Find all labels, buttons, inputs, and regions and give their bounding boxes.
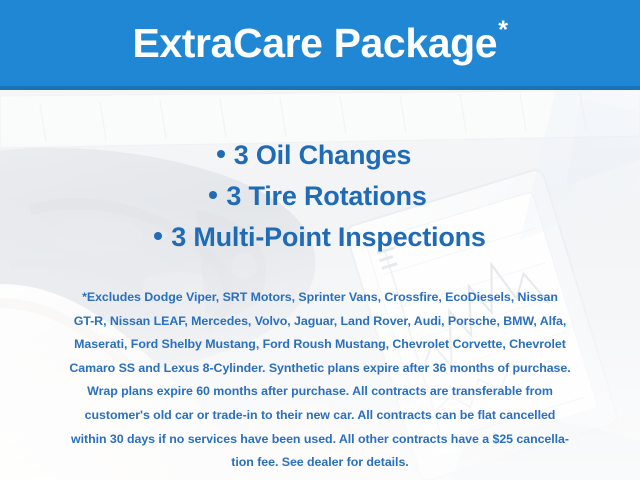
offer-bullet-label: 3 Oil Changes xyxy=(234,140,411,170)
offer-bullet-label: 3 Multi-Point Inspections xyxy=(171,222,486,252)
bullet-dot-icon xyxy=(209,191,217,199)
header-bar: ExtraCare Package* xyxy=(0,0,640,90)
page-title-text: ExtraCare Package xyxy=(132,23,497,64)
disclaimer-line: *Excludes Dodge Viper, SRT Motors, Sprin… xyxy=(18,286,622,310)
offer-bullet-item: 3 Multi-Point Inspections xyxy=(0,217,640,258)
disclaimer-text: *Excludes Dodge Viper, SRT Motors, Sprin… xyxy=(18,286,622,475)
disclaimer-line: tion fee. See dealer for details. xyxy=(18,451,622,475)
title-asterisk: * xyxy=(498,18,507,43)
disclaimer-line: GT-R, Nissan LEAF, Mercedes, Volvo, Jagu… xyxy=(18,310,622,334)
page-title: ExtraCare Package* xyxy=(0,0,640,86)
disclaimer-line: Wrap plans expire 60 months after purcha… xyxy=(18,380,622,404)
offer-bullet-list: 3 Oil Changes 3 Tire Rotations 3 Multi-P… xyxy=(0,135,640,258)
bullet-dot-icon xyxy=(154,232,162,240)
disclaimer-line: Maserati, Ford Shelby Mustang, Ford Rous… xyxy=(18,333,622,357)
disclaimer-line: customer's old car or trade-in to their … xyxy=(18,404,622,428)
disclaimer-line: Camaro SS and Lexus 8-Cylinder. Syntheti… xyxy=(18,357,622,381)
offer-bullet-label: 3 Tire Rotations xyxy=(226,181,426,211)
bullet-dot-icon xyxy=(217,150,225,158)
offer-bullet-item: 3 Tire Rotations xyxy=(0,176,640,217)
extracare-package-poster: ExtraCare Package* 3 Oil Changes 3 Tire … xyxy=(0,0,640,480)
disclaimer-line: within 30 days if no services have been … xyxy=(18,428,622,452)
offer-bullet-item: 3 Oil Changes xyxy=(0,135,640,176)
